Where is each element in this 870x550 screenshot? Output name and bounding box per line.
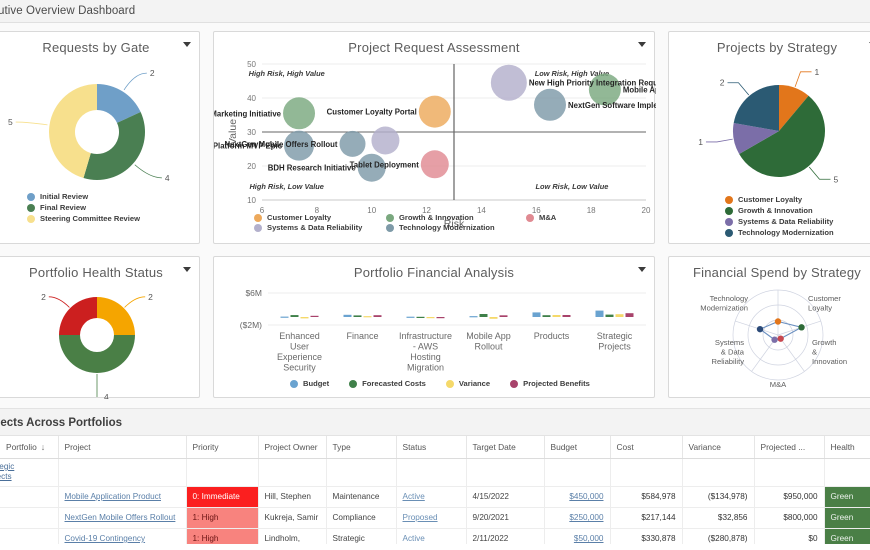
svg-text:BDH Research Initiative: BDH Research Initiative xyxy=(268,164,357,173)
legend-label: Variance xyxy=(459,379,490,388)
dashboard-grid: Requests by Gate 245 Initial ReviewFinal… xyxy=(0,23,870,408)
group-empty-cell xyxy=(396,458,466,486)
svg-text:High Risk, Low Value: High Risk, Low Value xyxy=(249,182,323,191)
svg-text:5: 5 xyxy=(8,117,13,127)
cell-type: Maintenance xyxy=(326,486,396,507)
svg-text:10: 10 xyxy=(247,196,256,205)
legend-item[interactable]: Customer Loyalty xyxy=(254,213,386,222)
legend-item[interactable]: Technology Modernization xyxy=(725,228,834,237)
group-empty-cell xyxy=(326,458,396,486)
svg-text:Customer Loyalty Portal: Customer Loyalty Portal xyxy=(327,108,417,117)
cell-variance: $32,856 xyxy=(682,507,754,528)
project-link[interactable]: NextGen Mobile Offers Rollout xyxy=(65,513,176,522)
table-row[interactable]: Mobile Application Product0: ImmediateHi… xyxy=(0,486,870,507)
svg-text:Reliability: Reliability xyxy=(712,357,745,366)
svg-text:2: 2 xyxy=(720,78,725,88)
cell-projected: $800,000 xyxy=(754,507,824,528)
legend-label: Initial Review xyxy=(40,192,88,201)
cell-project-owner: Kukreja, Samir xyxy=(258,507,326,528)
table-header-row: Portfolio↓ProjectPriorityProject OwnerTy… xyxy=(0,436,870,458)
svg-text:2021 Marketing Initiative: 2021 Marketing Initiative xyxy=(214,109,282,118)
svg-text:Technology: Technology xyxy=(710,294,749,303)
table-column-header-budget[interactable]: Budget xyxy=(544,436,610,458)
legend-label: Systems & Data Reliability xyxy=(738,217,833,226)
svg-text:Rollout: Rollout xyxy=(474,342,503,352)
dashboard-page: Executive Overview Dashboard Requests by… xyxy=(0,0,870,550)
legend-label: Growth & Innovation xyxy=(399,213,474,222)
cell-health: Green xyxy=(824,486,870,507)
cell-priority: 0: Immediate xyxy=(186,486,258,507)
svg-text:Mobile Application Product: Mobile Application Product xyxy=(623,86,656,95)
group-empty-cell xyxy=(186,458,258,486)
cell-project[interactable]: Mobile Application Product xyxy=(58,486,186,507)
legend-requests: Initial ReviewFinal ReviewSteering Commi… xyxy=(27,192,140,225)
legend-swatch-icon xyxy=(386,224,394,232)
svg-text:Security: Security xyxy=(283,363,316,373)
svg-text:M&A: M&A xyxy=(770,380,787,389)
legend-item[interactable]: Budget xyxy=(290,379,329,388)
cell-type: Compliance xyxy=(326,507,396,528)
group-empty-cell xyxy=(824,458,870,486)
svg-text:2: 2 xyxy=(150,68,155,78)
cell-variance: ($134,978) xyxy=(682,486,754,507)
panel-requests-by-gate: Requests by Gate 245 Initial ReviewFinal… xyxy=(0,31,200,244)
cell-budget[interactable]: $250,000 xyxy=(544,507,610,528)
svg-text:2: 2 xyxy=(148,292,153,302)
legend-swatch-icon xyxy=(725,229,733,237)
table-title: Projects Across Portfolios xyxy=(0,417,122,429)
svg-text:Growth: Growth xyxy=(812,338,836,347)
svg-text:Low Risk, Low Value: Low Risk, Low Value xyxy=(536,182,609,191)
legend-label: Steering Committee Review xyxy=(40,214,140,223)
cell-cost: $217,144 xyxy=(610,507,682,528)
group-empty-cell xyxy=(544,458,610,486)
legend-item[interactable]: Customer Loyalty xyxy=(725,195,834,204)
project-link[interactable]: Covid-19 Contingency xyxy=(65,534,146,543)
legend-assessment: Customer LoyaltyGrowth & InnovationM&ASy… xyxy=(254,213,606,232)
group-empty-cell xyxy=(610,458,682,486)
legend-item[interactable]: Projected Benefits xyxy=(510,379,590,388)
legend-swatch-icon xyxy=(290,380,298,388)
portfolio-health-donut: 242 xyxy=(0,257,201,399)
cell-status[interactable]: Proposed xyxy=(396,507,466,528)
cell-target-date: 4/15/2022 xyxy=(466,486,544,507)
svg-text:2: 2 xyxy=(41,292,46,302)
cell-project[interactable]: NextGen Mobile Offers Rollout xyxy=(58,507,186,528)
table-column-header-priority[interactable]: Priority xyxy=(186,436,258,458)
legend-label: Customer Loyalty xyxy=(738,195,802,204)
legend-label: M&A xyxy=(539,213,556,222)
projects-table: Portfolio↓ProjectPriorityProject OwnerTy… xyxy=(0,436,870,550)
status-link[interactable]: Proposed xyxy=(403,513,438,522)
group-empty-cell xyxy=(682,458,754,486)
svg-text:NextGen Mobile Offers Rollout: NextGen Mobile Offers Rollout xyxy=(224,140,337,149)
panel-financial-spend-by-strategy: Financial Spend by Strategy CustomerLoya… xyxy=(668,256,870,398)
page-title: Executive Overview Dashboard xyxy=(0,5,135,17)
panel-projects-by-strategy: Projects by Strategy 1512 Customer Loyal… xyxy=(668,31,870,244)
svg-text:20: 20 xyxy=(642,206,651,215)
svg-text:1: 1 xyxy=(698,137,703,147)
svg-text:Systems: Systems xyxy=(715,338,744,347)
svg-text:Tablet Deployment: Tablet Deployment xyxy=(350,160,420,169)
svg-text:Innovation: Innovation xyxy=(812,357,847,366)
svg-text:Finance: Finance xyxy=(346,331,378,341)
cell-cost: $584,978 xyxy=(610,486,682,507)
legend-item[interactable]: Systems & Data Reliability xyxy=(725,217,834,226)
legend-item[interactable]: Variance xyxy=(446,379,490,388)
legend-label: Technology Modernization xyxy=(399,223,495,232)
svg-text:20: 20 xyxy=(247,162,256,171)
table-column-header-variance[interactable]: Variance xyxy=(682,436,754,458)
project-link[interactable]: Mobile Application Product xyxy=(65,492,162,501)
svg-text:Experience: Experience xyxy=(277,352,322,362)
status-link[interactable]: Active xyxy=(403,492,425,501)
table-column-header-project[interactable]: Project xyxy=(58,436,186,458)
cell-health: Green xyxy=(824,507,870,528)
cell-projected: $950,000 xyxy=(754,486,824,507)
budget-link[interactable]: $450,000 xyxy=(569,492,603,501)
sort-descending-icon: ↓ xyxy=(41,442,46,452)
svg-text:NextGen Software Implementatio: NextGen Software Implementation Project xyxy=(568,101,656,110)
legend-strategy: Customer LoyaltyGrowth & InnovationSyste… xyxy=(725,195,834,239)
legend-label: Technology Modernization xyxy=(738,228,834,237)
svg-text:50: 50 xyxy=(247,60,256,69)
panel-portfolio-health-status: Portfolio Health Status 242 xyxy=(0,256,200,398)
table-body: StrategicProjectsMobile Application Prod… xyxy=(0,458,870,549)
svg-text:4: 4 xyxy=(165,173,170,183)
legend-swatch-icon xyxy=(254,214,262,222)
group-empty-cell xyxy=(58,458,186,486)
budget-link[interactable]: $50,000 xyxy=(574,534,604,543)
legend-swatch-icon xyxy=(725,196,733,204)
legend-swatch-icon xyxy=(254,224,262,232)
legend-item[interactable]: Growth & Innovation xyxy=(725,206,834,215)
legend-label: Projected Benefits xyxy=(523,379,590,388)
svg-text:Products: Products xyxy=(534,331,570,341)
table-row[interactable]: NextGen Mobile Offers Rollout1: HighKukr… xyxy=(0,507,870,528)
table-column-header-cost[interactable]: Cost xyxy=(610,436,682,458)
svg-text:Strategic: Strategic xyxy=(597,331,633,341)
table-column-header-health[interactable]: Health xyxy=(824,436,870,458)
financial-spend-radar: CustomerLoyaltyGrowth&InnovationM&ASyste… xyxy=(669,257,870,399)
legend-label: Customer Loyalty xyxy=(267,213,331,222)
table-bottom-mask xyxy=(0,544,870,550)
panel-portfolio-financial-analysis: Portfolio Financial Analysis $6M($2M)Enh… xyxy=(213,256,655,398)
group-empty-cell xyxy=(258,458,326,486)
app-header: Executive Overview Dashboard xyxy=(0,0,870,23)
svg-text:$6M: $6M xyxy=(245,288,262,298)
legend-label: Forecasted Costs xyxy=(362,379,426,388)
legend-financial: BudgetForecasted CostsVarianceProjected … xyxy=(290,379,590,390)
legend-item[interactable]: Steering Committee Review xyxy=(27,214,140,223)
legend-item[interactable]: Systems & Data Reliability xyxy=(254,223,386,232)
svg-text:- AWS: - AWS xyxy=(413,342,438,352)
group-portfolio-cell[interactable]: StrategicProjects xyxy=(0,458,58,486)
svg-text:4: 4 xyxy=(104,392,109,399)
cell-budget[interactable]: $450,000 xyxy=(544,486,610,507)
table-column-header-status[interactable]: Status xyxy=(396,436,466,458)
legend-swatch-icon xyxy=(725,207,733,215)
svg-text:High Risk, High Value: High Risk, High Value xyxy=(249,69,325,78)
legend-label: Budget xyxy=(303,379,329,388)
table-column-header-type[interactable]: Type xyxy=(326,436,396,458)
table-column-header-projected[interactable]: Projected ... xyxy=(754,436,824,458)
svg-text:1: 1 xyxy=(815,67,820,77)
group-portfolio-link-line1[interactable]: Strategic xyxy=(0,462,52,472)
legend-swatch-icon xyxy=(27,193,35,201)
legend-label: Systems & Data Reliability xyxy=(267,223,362,232)
cell-target-date: 9/20/2021 xyxy=(466,507,544,528)
svg-text:5: 5 xyxy=(833,174,838,184)
legend-label: Growth & Innovation xyxy=(738,206,813,215)
table-header-bar: Projects Across Portfolios xyxy=(0,408,870,436)
legend-swatch-icon xyxy=(446,380,454,388)
svg-text:Loyalty: Loyalty xyxy=(808,304,832,313)
legend-swatch-icon xyxy=(349,380,357,388)
svg-text:Customer: Customer xyxy=(808,294,841,303)
panel-project-request-assessment: Project Request Assessment 1020304050681… xyxy=(213,31,655,244)
legend-swatch-icon xyxy=(725,218,733,226)
legend-swatch-icon xyxy=(27,215,35,223)
portfolio-financial-bars: $6M($2M)EnhancedUserExperienceSecurityFi… xyxy=(214,257,656,399)
svg-text:Infrastructure: Infrastructure xyxy=(399,331,452,341)
legend-swatch-icon xyxy=(27,204,35,212)
svg-text:Enhanced: Enhanced xyxy=(279,331,320,341)
budget-link[interactable]: $250,000 xyxy=(569,513,603,522)
group-portfolio-link-line2[interactable]: Projects xyxy=(0,472,52,482)
table-column-header-target-date[interactable]: Target Date xyxy=(466,436,544,458)
projects-table-section: Projects Across Portfolios Portfolio↓Pro… xyxy=(0,408,870,550)
cell-project-owner: Hill, Stephen xyxy=(258,486,326,507)
svg-text:Mobile App: Mobile App xyxy=(466,331,511,341)
legend-item[interactable]: Initial Review xyxy=(27,192,140,201)
svg-text:Modernization: Modernization xyxy=(700,304,748,313)
svg-text:& Data: & Data xyxy=(721,348,745,357)
table-group-row: StrategicProjects xyxy=(0,458,870,486)
svg-text:30: 30 xyxy=(247,128,256,137)
group-empty-cell xyxy=(466,458,544,486)
cell-portfolio xyxy=(0,507,58,528)
table-column-header-portfolio[interactable]: Portfolio↓ xyxy=(0,436,58,458)
svg-text:User: User xyxy=(290,342,309,352)
legend-item[interactable]: Growth & Innovation xyxy=(386,213,526,222)
cell-priority: 1: High xyxy=(186,507,258,528)
svg-text:Migration: Migration xyxy=(407,363,444,373)
legend-swatch-icon xyxy=(386,214,394,222)
legend-swatch-icon xyxy=(510,380,518,388)
legend-item[interactable]: Final Review xyxy=(27,203,140,212)
cell-portfolio xyxy=(0,486,58,507)
cell-status[interactable]: Active xyxy=(396,486,466,507)
svg-text:Hosting: Hosting xyxy=(410,352,441,362)
legend-item[interactable]: M&A xyxy=(526,213,606,222)
legend-item[interactable]: Technology Modernization xyxy=(386,223,526,232)
svg-text:Projects: Projects xyxy=(598,342,631,352)
legend-item[interactable]: Forecasted Costs xyxy=(349,379,426,388)
legend-label: Final Review xyxy=(40,203,86,212)
legend-swatch-icon xyxy=(526,214,534,222)
svg-text:Value: Value xyxy=(227,119,239,145)
svg-text:&: & xyxy=(812,348,817,357)
table-column-header-project-owner[interactable]: Project Owner xyxy=(258,436,326,458)
group-empty-cell xyxy=(754,458,824,486)
svg-text:($2M): ($2M) xyxy=(240,320,262,330)
svg-text:40: 40 xyxy=(247,94,256,103)
